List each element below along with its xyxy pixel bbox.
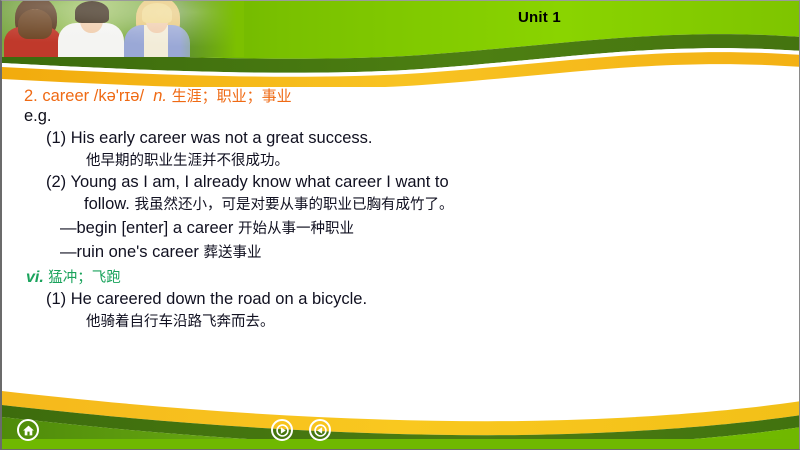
phrase-2-english: ruin one's career — [77, 243, 199, 261]
home-icon[interactable] — [17, 419, 39, 441]
example-2-marker: (2) — [46, 173, 66, 191]
example-1-english: (1) His early career was not a great suc… — [46, 129, 780, 148]
verb-example-1-english: (1) He careered down the road on a bicyc… — [46, 290, 780, 309]
slide-header: Unit 1 — [2, 1, 800, 87]
previous-slide-icon[interactable] — [271, 419, 293, 441]
phrase-1-chinese: 开始从事一种职业 — [238, 221, 354, 237]
slide-canvas: Unit 1 2. career /kə'rɪə/ n. 生涯；职业；事业 e.… — [0, 0, 800, 450]
students-photo — [2, 1, 244, 57]
slide-footer — [2, 369, 800, 449]
phrase-1-english: begin [enter] a career — [77, 219, 234, 237]
phrase-1: —begin [enter] a career 开始从事一种职业 — [60, 217, 780, 238]
example-2-text-line1: Young as I am, I already know what caree… — [70, 173, 448, 191]
pos-verb-line: vi. 猛冲；飞跑 — [26, 266, 780, 287]
example-2-line2: follow. 我虽然还小，可是对要从事的职业已胸有成竹了。 — [84, 193, 780, 214]
home-glyph — [22, 424, 35, 437]
entry-definition-cn: 生涯；职业；事业 — [172, 88, 292, 105]
entry-pos-noun: n. — [153, 87, 167, 105]
headword-line: 2. career /kə'rɪə/ n. 生涯；职业；事业 — [24, 85, 780, 106]
verb-example-1-marker: (1) — [46, 290, 66, 308]
example-2-english-line1: (2) Young as I am, I already know what c… — [46, 173, 780, 192]
example-1-text: His early career was not a great success… — [71, 129, 373, 147]
phrase-2: —ruin one's career 葬送事业 — [60, 241, 780, 262]
entry-pos-verb: vi. — [26, 269, 44, 286]
example-2-chinese: 我虽然还小，可是对要从事的职业已胸有成竹了。 — [134, 197, 453, 213]
entry-phonetic: /kə'rɪə/ — [94, 87, 144, 105]
entry-pos-verb-definition-cn: 猛冲；飞跑 — [48, 270, 121, 286]
example-1-marker: (1) — [46, 129, 66, 147]
next-glyph — [314, 424, 327, 437]
verb-example-1-text: He careered down the road on a bicycle. — [71, 290, 367, 308]
unit-title: Unit 1 — [518, 9, 561, 26]
phrase-2-chinese: 葬送事业 — [203, 245, 261, 261]
example-2-text-line2: follow. — [84, 195, 130, 213]
prev-glyph — [276, 424, 289, 437]
example-1-chinese: 他早期的职业生涯并不很成功。 — [86, 149, 780, 170]
phrase-2-dash: — — [60, 243, 77, 261]
entry-number: 2. — [24, 87, 38, 105]
verb-example-1-chinese: 他骑着自行车沿路飞奔而去。 — [86, 310, 780, 331]
footer-banner-shape — [2, 369, 800, 449]
eg-label: e.g. — [24, 107, 780, 126]
phrase-1-dash: — — [60, 219, 77, 237]
slide-content: 2. career /kə'rɪə/ n. 生涯；职业；事业 e.g. (1) … — [24, 85, 780, 331]
entry-word: career — [42, 87, 89, 105]
next-slide-icon[interactable] — [309, 419, 331, 441]
